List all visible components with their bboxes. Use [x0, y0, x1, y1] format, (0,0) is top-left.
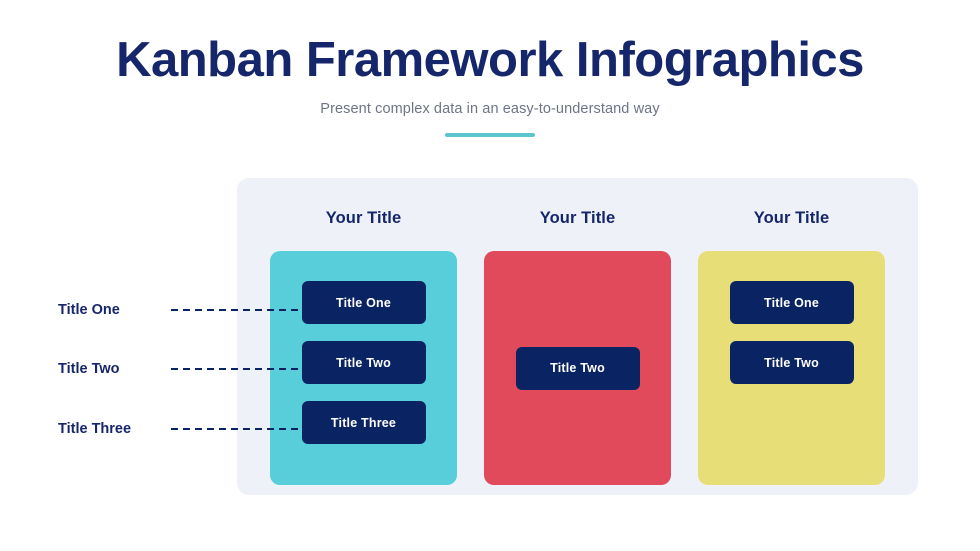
card-2-1[interactable]: Title Two	[516, 347, 640, 390]
legend-item-1: Title One	[0, 300, 310, 320]
column-body-2: Title Two	[484, 251, 671, 485]
kanban-board-panel: Your Title Title One Title Two Title Thr…	[237, 178, 918, 495]
accent-divider	[445, 133, 535, 137]
card-3-1[interactable]: Title One	[730, 281, 854, 324]
kanban-column-2: Your Title Title Two	[484, 178, 671, 495]
kanban-column-3: Your Title Title One Title Two	[698, 178, 885, 495]
card-1-1[interactable]: Title One	[302, 281, 426, 324]
legend-labels: Title One Title Two Title Three	[0, 0, 310, 551]
legend-label-1: Title One	[58, 302, 166, 318]
infographic-slide: Kanban Framework Infographics Present co…	[0, 0, 980, 551]
card-1-3[interactable]: Title Three	[302, 401, 426, 444]
card-3-2[interactable]: Title Two	[730, 341, 854, 384]
connector-line-2	[171, 368, 310, 370]
connector-line-1	[171, 309, 310, 311]
legend-item-2: Title Two	[0, 359, 310, 379]
card-1-2[interactable]: Title Two	[302, 341, 426, 384]
legend-label-2: Title Two	[58, 361, 166, 377]
legend-item-3: Title Three	[0, 419, 310, 439]
legend-label-3: Title Three	[58, 421, 166, 437]
column-title-2: Your Title	[540, 209, 616, 228]
kanban-columns: Your Title Title One Title Two Title Thr…	[237, 178, 918, 495]
column-title-1: Your Title	[326, 209, 402, 228]
column-body-3: Title One Title Two	[698, 251, 885, 485]
connector-line-3	[171, 428, 310, 430]
column-title-3: Your Title	[754, 209, 830, 228]
